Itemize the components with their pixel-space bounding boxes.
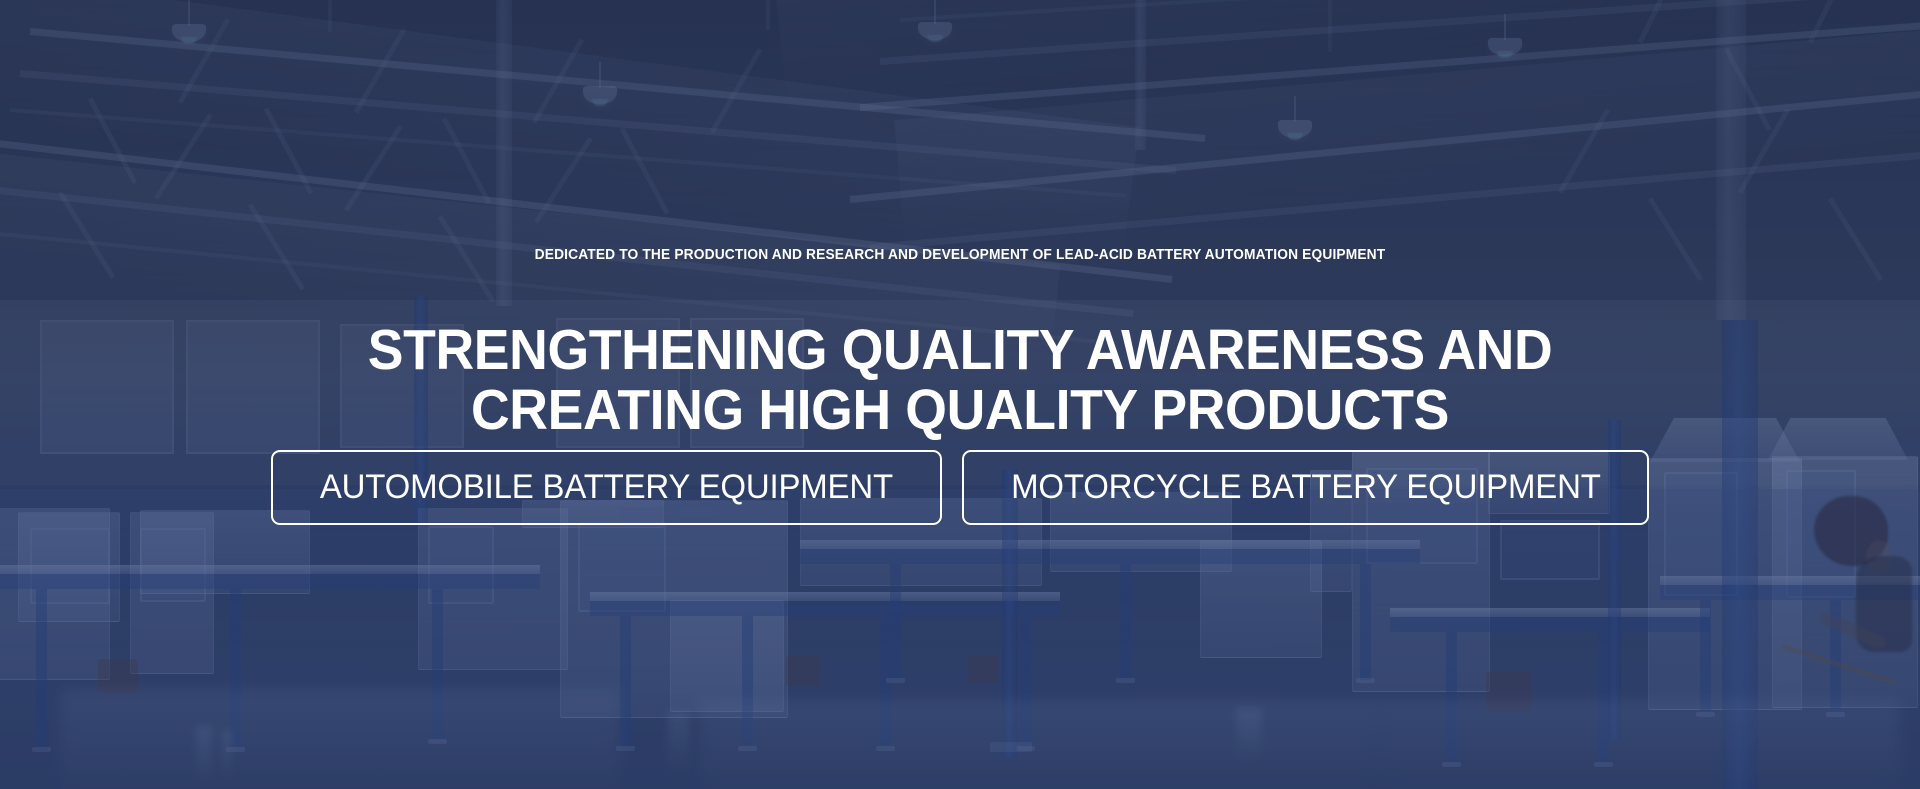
hero-headline-line-2: CREATING HIGH QUALITY PRODUCTS — [58, 380, 1863, 440]
hero-cta-row: AUTOMOBILE BATTERY EQUIPMENT MOTORCYCLE … — [0, 450, 1920, 525]
automobile-battery-equipment-button[interactable]: AUTOMOBILE BATTERY EQUIPMENT — [271, 450, 942, 525]
hero-headline: STRENGTHENING QUALITY AWARENESS AND CREA… — [58, 320, 1863, 440]
motorcycle-battery-equipment-button[interactable]: MOTORCYCLE BATTERY EQUIPMENT — [962, 450, 1650, 525]
hero-tagline: DEDICATED TO THE PRODUCTION AND RESEARCH… — [48, 247, 1872, 263]
hero-content: DEDICATED TO THE PRODUCTION AND RESEARCH… — [0, 0, 1920, 789]
hero-headline-line-1: STRENGTHENING QUALITY AWARENESS AND — [58, 320, 1863, 380]
motorcycle-battery-equipment-label: MOTORCYCLE BATTERY EQUIPMENT — [1011, 468, 1601, 507]
automobile-battery-equipment-label: AUTOMOBILE BATTERY EQUIPMENT — [320, 468, 893, 507]
hero-banner: DEDICATED TO THE PRODUCTION AND RESEARCH… — [0, 0, 1920, 789]
